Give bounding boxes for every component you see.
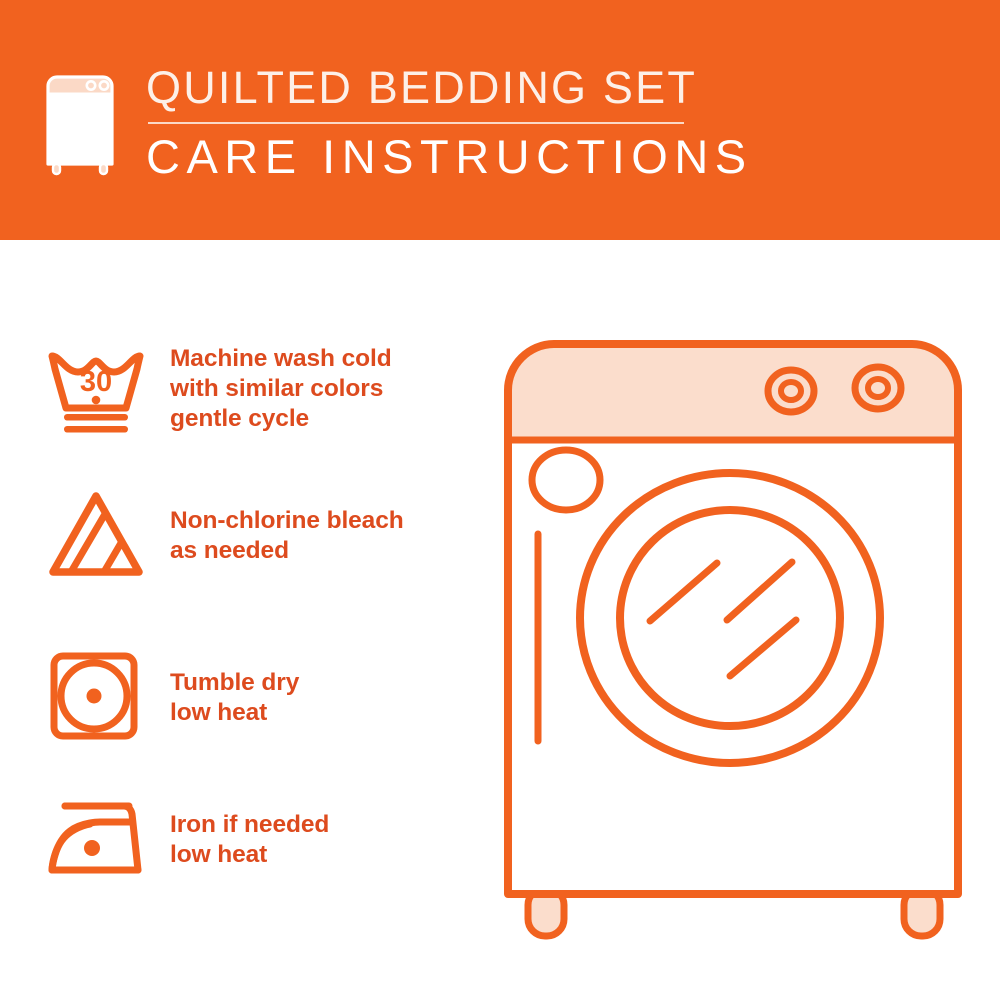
- dry-heat-dot: [87, 689, 102, 704]
- instruction-label-wash: Machine wash cold with similar colors ge…: [170, 342, 392, 434]
- iron-heat-dot: [84, 840, 100, 856]
- instruction-label-bleach: Non-chlorine bleach as needed: [170, 488, 404, 566]
- instruction-row-bleach: Non-chlorine bleach as needed: [44, 488, 474, 582]
- page-title: QUILTED BEDDING SET: [146, 62, 766, 114]
- care-instructions-list: 30 Machine wash cold with similar colors…: [0, 240, 490, 1000]
- wash-temperature-label: 30: [80, 366, 112, 398]
- control-panel: [508, 344, 958, 440]
- machine-wash-basin-icon: 30: [44, 342, 170, 438]
- bleach-stripe-1: [71, 514, 105, 572]
- instruction-label-iron: Iron if needed low heat: [170, 798, 329, 870]
- instruction-row-iron: Iron if needed low heat: [44, 798, 474, 882]
- instruction-row-dry: Tumble dry low heat: [44, 648, 474, 744]
- gentle-bar-2: [64, 426, 128, 433]
- gentle-bar-1: [64, 414, 128, 421]
- tumble-dry-icon: [44, 648, 170, 744]
- page-subtitle: CARE INSTRUCTIONS: [146, 130, 766, 184]
- bleach-stripe-2: [104, 543, 121, 572]
- iron-icon: [44, 798, 170, 882]
- wash-dot-icon: [92, 396, 101, 405]
- header-divider: [148, 122, 684, 124]
- header-logo-washing-machine-icon: [44, 72, 116, 176]
- non-chlorine-bleach-triangle-icon: [44, 488, 170, 582]
- header-banner: QUILTED BEDDING SET CARE INSTRUCTIONS: [0, 0, 1000, 240]
- header-title-group: QUILTED BEDDING SET CARE INSTRUCTIONS: [146, 62, 766, 184]
- instruction-label-dry: Tumble dry low heat: [170, 648, 299, 728]
- washing-machine-illustration: [492, 328, 974, 948]
- instruction-row-wash: 30 Machine wash cold with similar colors…: [44, 342, 474, 438]
